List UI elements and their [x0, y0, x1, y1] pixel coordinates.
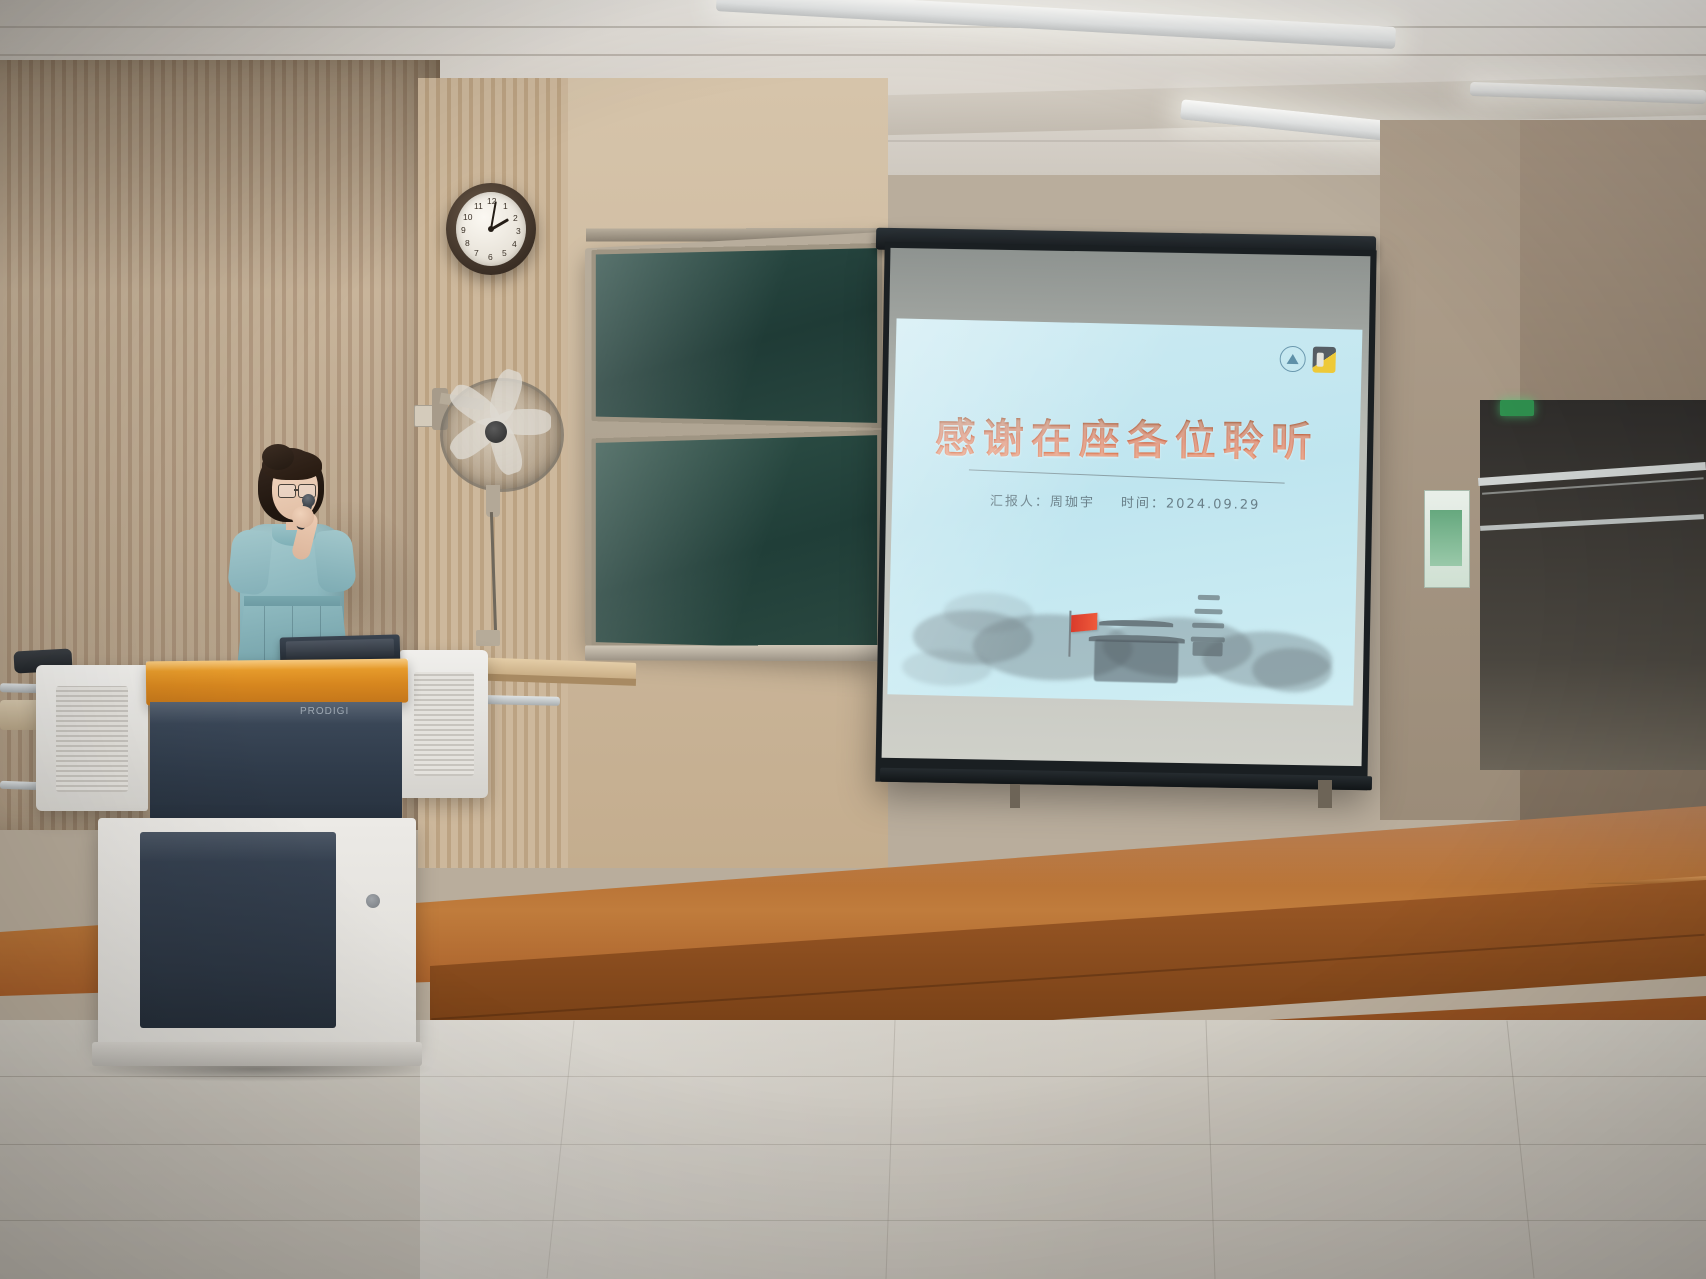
presenter-hair-bun: [262, 444, 294, 470]
screen-support-left: [1010, 784, 1020, 808]
chalkboard-panel-lower: [592, 430, 882, 655]
clock-number-11: 11: [474, 201, 483, 211]
lectern-brand-label: PRODIGI: [300, 706, 374, 722]
clock-number-3: 3: [516, 226, 521, 236]
screen-support-right: [1318, 780, 1332, 808]
classroom-scene: 12 1 2 3 4 5 6 7 8 9 10 11: [0, 0, 1706, 1279]
clock-number-2: 2: [513, 213, 518, 223]
fan-neck: [486, 485, 500, 517]
slide-light-sheen: [887, 318, 1362, 705]
clock-number-9: 9: [461, 225, 466, 235]
green-notice-poster-graphic: [1430, 510, 1462, 566]
fan-switch-box[interactable]: [476, 630, 500, 646]
lectern-right-speaker-grille: [414, 672, 474, 776]
clock-number-1: 1: [503, 201, 508, 211]
lectern-left-speaker-grille: [56, 686, 128, 792]
floor-reflection: [420, 1020, 1706, 1279]
clock-number-10: 10: [463, 212, 472, 222]
clock-number-4: 4: [512, 239, 517, 249]
chalkboard-panel-upper: [592, 243, 882, 428]
wall-clock-face: 12 1 2 3 4 5 6 7 8 9 10 11: [456, 192, 526, 266]
clock-number-8: 8: [465, 238, 470, 248]
fan-hub: [485, 421, 507, 443]
projection-screen[interactable]: 感谢在座各位聆听 汇报人：周珈宇时间：2024.09.29: [882, 248, 1371, 766]
clock-center-pin: [488, 226, 494, 232]
presenter-glasses-bridge: [294, 489, 299, 491]
lectern-base: [92, 1042, 422, 1066]
emergency-exit-sign-icon: [1500, 400, 1534, 416]
presenter-hand: [292, 506, 314, 528]
chalk-tray: [585, 645, 882, 661]
lectern-front-panel-highlight: [140, 832, 336, 862]
clock-number-6: 6: [488, 252, 493, 262]
presenter-left-sleeve: [227, 528, 273, 596]
clock-number-7: 7: [474, 248, 479, 258]
lectern-logo-icon: [366, 894, 380, 908]
presenter-glasses-left-lens: [278, 484, 296, 498]
clock-number-5: 5: [502, 248, 507, 258]
presentation-slide: 感谢在座各位聆听 汇报人：周珈宇时间：2024.09.29: [887, 318, 1362, 705]
lectern-monitor-screen[interactable]: [286, 639, 394, 660]
corridor-opening: [1480, 400, 1706, 770]
